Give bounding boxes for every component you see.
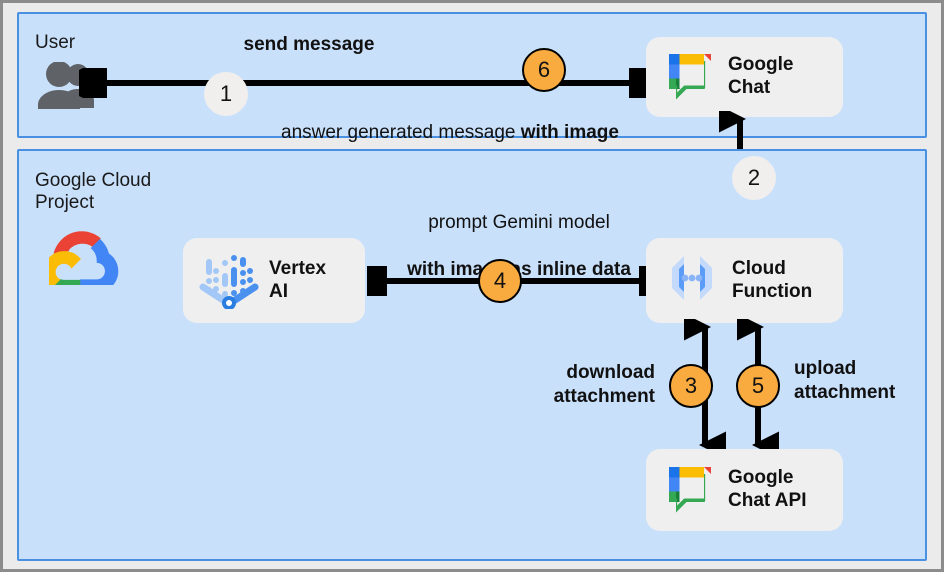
node-google-chat[interactable]: Google Chat [646, 37, 843, 117]
node-google-chat-api[interactable]: Google Chat API [646, 449, 843, 531]
edge-label-answer-regular: answer generated message [281, 122, 515, 143]
step-badge-3: 3 [669, 364, 713, 408]
edge-label-send-message: send message [179, 33, 439, 57]
connector-user-googlechat [79, 68, 655, 98]
panel-user: User send message answer generated messa… [17, 12, 927, 138]
edge-label-download-attachment: download attachment [485, 361, 655, 409]
vertex-ai-logo-icon [199, 247, 259, 314]
edge-label-answer: answer generated message with image [281, 97, 619, 145]
edge-label-answer-bold: with image [521, 122, 619, 143]
step-badge-2: 2 [732, 156, 776, 200]
step-badge-4: 4 [478, 259, 522, 303]
edge-label-prompt-regular: prompt Gemini model [428, 212, 610, 233]
step-badge-6: 6 [522, 48, 566, 92]
diagram-canvas: User send message answer generated messa… [0, 0, 944, 572]
step-badge-1: 1 [204, 72, 248, 116]
panel-google-cloud-project: Google Cloud Project prompt Gemini model… [17, 149, 927, 561]
step-badge-5: 5 [736, 364, 780, 408]
edge-label-upload-attachment: upload attachment [794, 357, 944, 405]
node-cloud-function[interactable]: Cloud Function [646, 238, 843, 323]
panel-user-label: User [35, 32, 75, 54]
node-vertex-ai[interactable]: Vertex AI [183, 238, 365, 323]
node-google-chat-api-label: Google Chat API [728, 467, 806, 513]
node-vertex-ai-label: Vertex AI [269, 258, 326, 304]
google-chat-logo-icon [662, 460, 718, 521]
cloud-function-logo-icon [662, 248, 722, 313]
google-chat-logo-icon [662, 47, 718, 108]
node-google-chat-label: Google Chat [728, 54, 793, 100]
panel-gcp-label: Google Cloud Project [35, 170, 151, 215]
google-cloud-logo-icon [49, 227, 121, 290]
node-cloud-function-label: Cloud Function [732, 258, 812, 304]
